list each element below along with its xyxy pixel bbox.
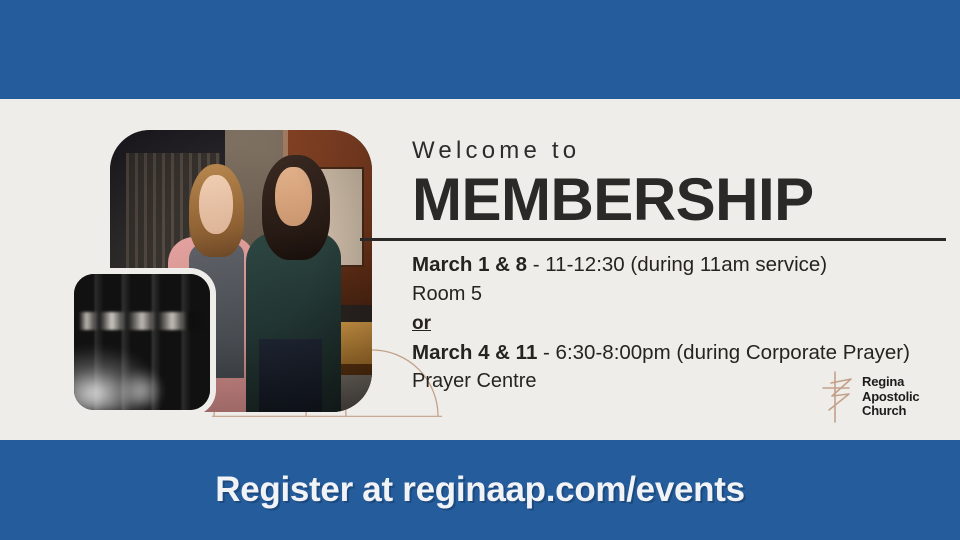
session-1-dates: March 1 & 8 — [412, 253, 527, 276]
logo-line-3: Church — [862, 404, 919, 419]
logo-line-1: Regina — [862, 375, 919, 390]
headline-block: Welcome to MEMBERSHIP — [412, 138, 948, 230]
inset-photo — [68, 268, 216, 416]
page-title: MEMBERSHIP — [412, 170, 948, 230]
register-cta-text[interactable]: Register at reginaap.com/events — [215, 470, 745, 510]
session-1-line: March 1 & 8 - 11-12:30 (during 11am serv… — [412, 251, 948, 279]
session-2-time: - 6:30-8:00pm (during Corporate Prayer) — [537, 341, 910, 364]
inset-photo-clasped-hands — [79, 312, 204, 330]
session-1-time: - 11-12:30 (during 11am service) — [527, 253, 827, 276]
divider-rule — [360, 238, 946, 241]
session-2-dates: March 4 & 11 — [412, 341, 537, 364]
register-banner: Register at reginaap.com/events — [0, 440, 960, 540]
cross-icon — [818, 369, 860, 425]
logo-wordmark: Regina Apostolic Church — [862, 375, 919, 419]
session-1-location: Room 5 — [412, 279, 948, 309]
inset-photo-inner — [74, 274, 210, 410]
promo-graphic: Welcome to MEMBERSHIP March 1 & 8 - 11-1… — [0, 0, 960, 540]
inset-photo-glow-secondary — [118, 369, 164, 404]
session-separator: or — [412, 309, 948, 339]
session-2-line: March 4 & 11 - 6:30-8:00pm (during Corpo… — [412, 339, 948, 367]
logo-line-2: Apostolic — [862, 390, 919, 405]
church-logo: Regina Apostolic Church — [818, 368, 946, 426]
eyebrow-text: Welcome to — [412, 138, 948, 164]
